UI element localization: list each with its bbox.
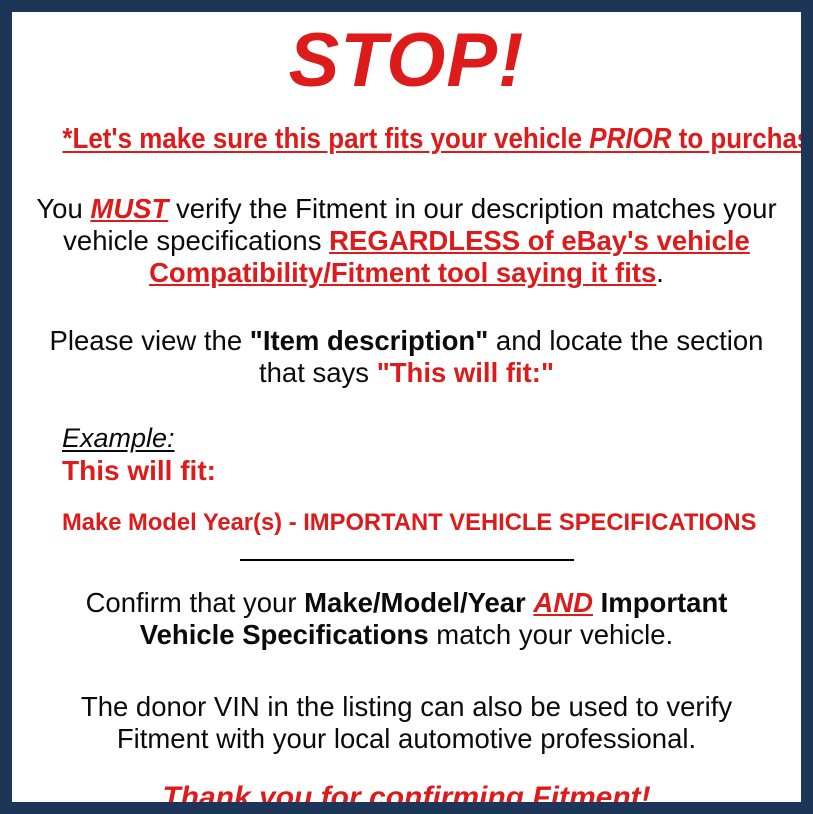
subtitle-text-before: *Let's make sure this part fits your veh… [62, 123, 589, 155]
closing-thank-you: Thank you for confirming Fitment! [22, 781, 791, 802]
paragraph-view-description: Please view the "Item description" and l… [22, 325, 791, 389]
confirm-seg-1: Confirm that your [86, 587, 305, 618]
example-spec-line: Make Model Year(s) - IMPORTANT VEHICLE S… [62, 509, 784, 537]
this-will-fit-quote: "This will fit:" [377, 357, 554, 388]
fitment-subtitle: *Let's make sure this part fits your veh… [62, 124, 750, 156]
example-block: Example: This will fit: Make Model Year(… [22, 423, 791, 537]
subtitle-emphasis-prior: PRIOR [589, 123, 671, 155]
must-seg-3: . [656, 257, 664, 288]
example-fit-heading: This will fit: [62, 455, 791, 487]
example-label: Example: [62, 423, 175, 453]
paragraph-must-verify: You MUST verify the Fitment in our descr… [22, 193, 791, 289]
section-divider [240, 559, 574, 561]
view-seg-1: Please view the [50, 325, 250, 356]
item-description-emphasis: "Item description" [250, 325, 488, 356]
fitment-notice-card: STOP! *Let's make sure this part fits yo… [0, 0, 813, 814]
and-emphasis: AND [533, 587, 593, 618]
fitment-notice-body: STOP! *Let's make sure this part fits yo… [12, 12, 801, 802]
subtitle-text-after: to purchasing* [671, 123, 801, 155]
must-seg-1: You [36, 193, 90, 224]
divider-wrap [22, 559, 791, 561]
confirm-seg-2: match your vehicle. [429, 619, 674, 650]
make-model-year-emphasis: Make/Model/Year [304, 587, 526, 618]
stop-headline: STOP! [22, 22, 791, 100]
must-emphasis: MUST [90, 193, 168, 224]
paragraph-confirm-match: Confirm that your Make/Model/Year AND Im… [22, 587, 791, 651]
paragraph-donor-vin: The donor VIN in the listing can also be… [22, 691, 791, 755]
